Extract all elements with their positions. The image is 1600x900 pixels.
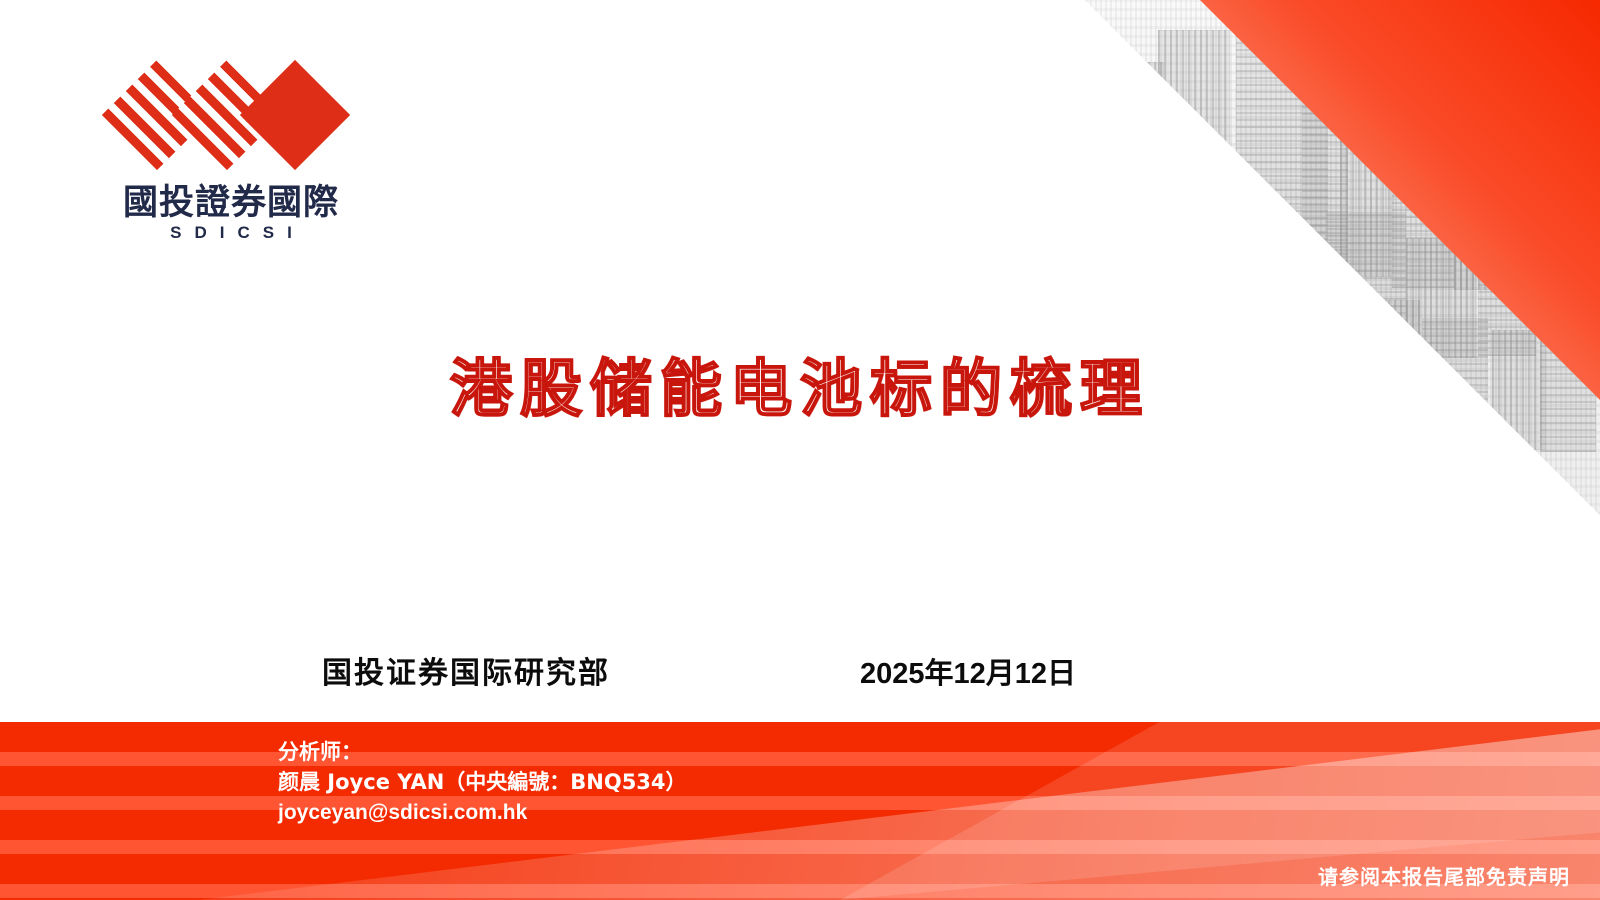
corner-decoration <box>1040 0 1600 560</box>
cityscape-watermark-image <box>1040 0 1600 560</box>
building-silhouette <box>1392 118 1454 288</box>
building-silhouette <box>1454 140 1498 290</box>
meta-row: 国投证券国际研究部 2025年12月12日 <box>322 648 1122 692</box>
sdicsi-diamond-mark-icon <box>108 56 338 181</box>
building-silhouette <box>1158 30 1230 260</box>
diamond-solid-right-icon <box>240 60 350 170</box>
building-silhouette <box>1326 212 1406 342</box>
building-silhouette <box>1478 206 1536 356</box>
logo-chinese-name: 國投證券國際 <box>96 185 366 222</box>
footer-band: 分析师： 颜晨 Joyce YAN（中央編號：BNQ534） joyceyan@… <box>0 722 1600 900</box>
building-silhouette <box>1340 62 1394 277</box>
presentation-cover-slide: 國投證券國際 SDICSI 港股储能电池标的梳理 国投证券国际研究部 2025年… <box>0 0 1600 900</box>
analyst-label: 分析师： <box>278 738 687 768</box>
research-department-label: 国投证券国际研究部 <box>322 648 610 692</box>
building-silhouette <box>1236 18 1328 268</box>
company-logo: 國投證券國際 SDICSI <box>96 56 366 243</box>
analyst-name: 颜晨 Joyce YAN（中央編號：BNQ534） <box>278 768 687 798</box>
slide-main-title: 港股储能电池标的梳理 <box>0 338 1600 428</box>
disclaimer-note: 请参阅本报告尾部免责声明 <box>1318 861 1570 890</box>
logo-english-name: SDICSI <box>96 223 366 243</box>
building-silhouette <box>1302 96 1348 276</box>
publication-date: 2025年12月12日 <box>860 650 1076 692</box>
building-silhouette <box>1136 62 1164 262</box>
analyst-email[interactable]: joyceyan@sdicsi.com.hk <box>278 798 687 828</box>
analyst-info: 分析师： 颜晨 Joyce YAN（中央編號：BNQ534） joyceyan@… <box>278 738 687 827</box>
